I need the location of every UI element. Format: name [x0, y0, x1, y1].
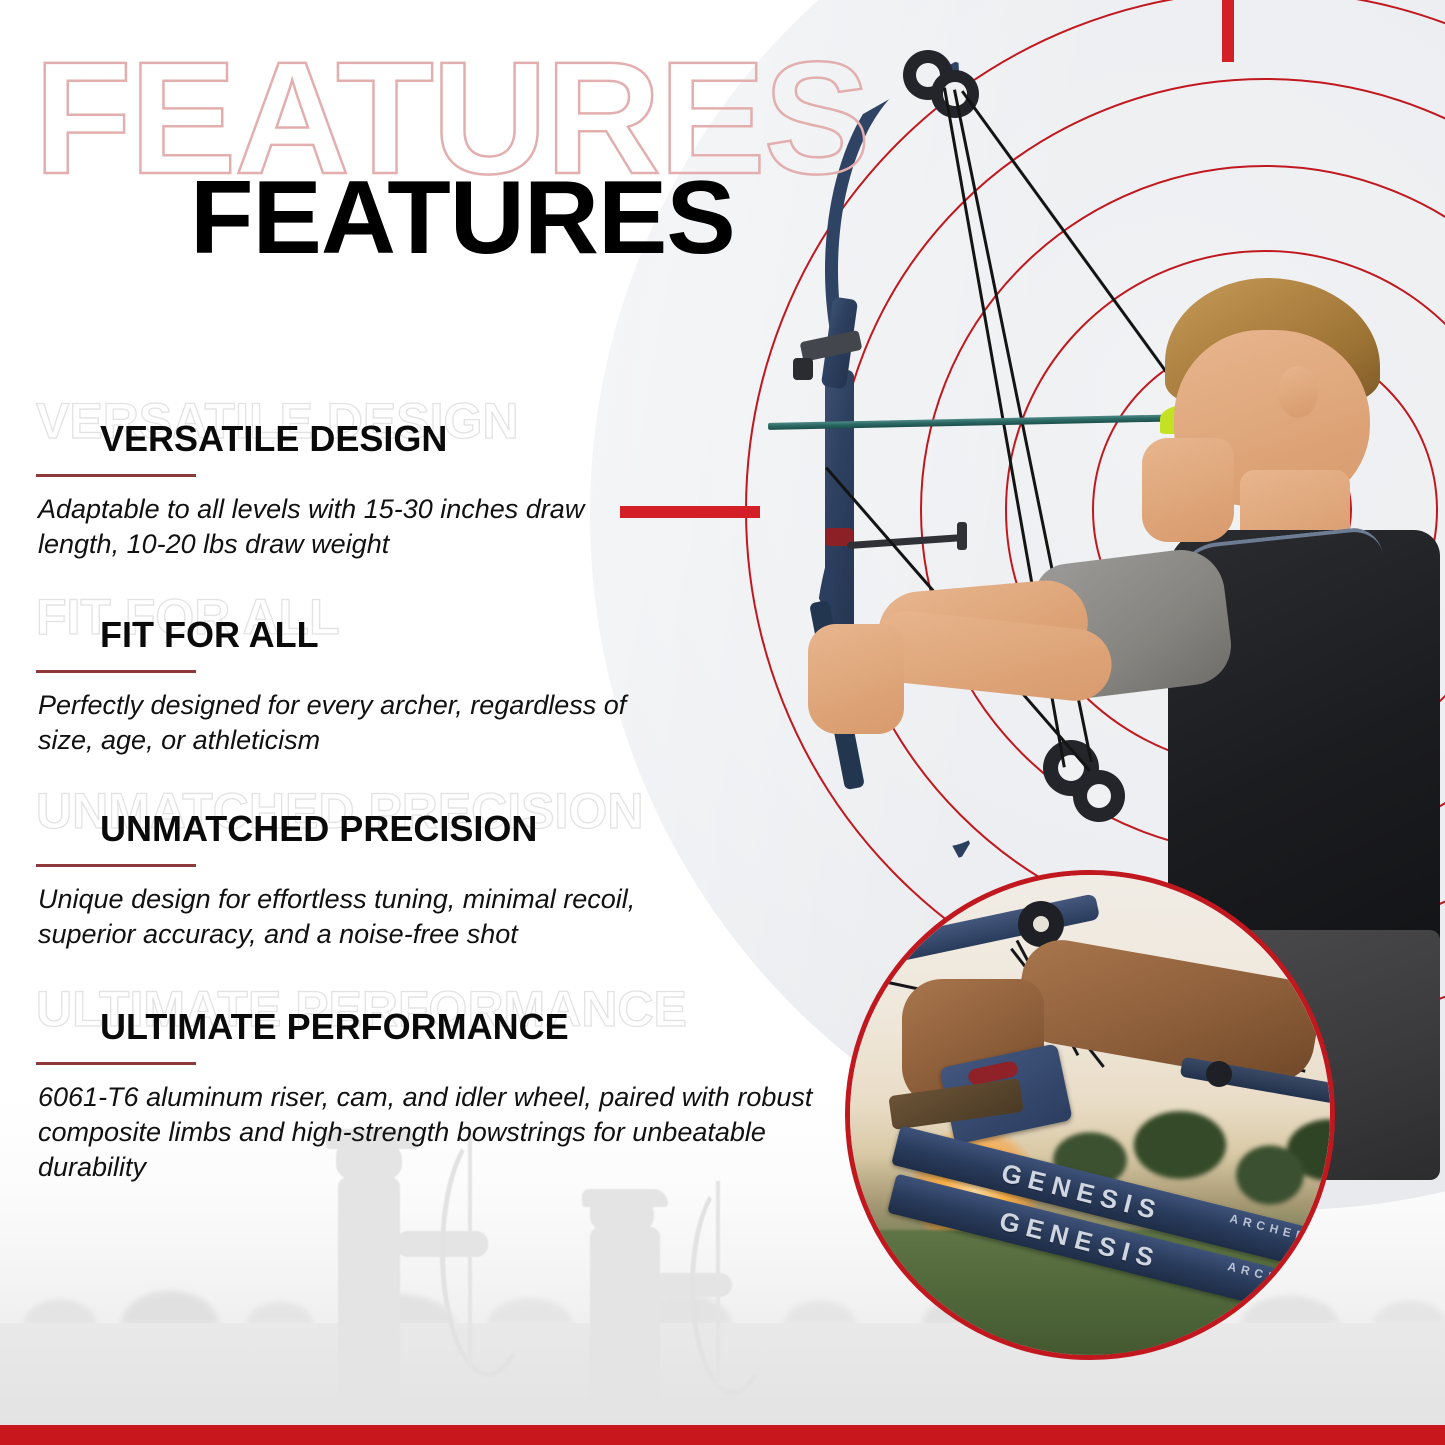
bow-stabilizer-bar — [847, 534, 965, 549]
archer-ear — [1278, 366, 1318, 418]
page-title: FEATURES — [190, 166, 735, 270]
inset-bow-idler-hub — [1033, 916, 1049, 932]
feature-body-text: Unique design for effortless tuning, min… — [38, 882, 728, 952]
feature-heading: VERSATILE DESIGN — [100, 421, 447, 457]
infographic-canvas: GENESIS ARCHERY GENESIS ARCHERY FEATURES… — [0, 0, 1445, 1445]
archer-draw-hand — [1142, 438, 1234, 542]
crosshair-tick-left — [620, 506, 760, 518]
feature-heading: FIT FOR ALL — [100, 617, 319, 653]
background-archer-two — [560, 1167, 780, 1417]
feature-body-text: 6061-T6 aluminum riser, cam, and idler w… — [38, 1080, 818, 1185]
feature-body-text: Adaptable to all levels with 15-30 inche… — [38, 492, 608, 562]
bottom-accent-bar — [0, 1425, 1445, 1445]
bow-sight-pin — [793, 358, 813, 380]
feature-underline — [36, 670, 196, 673]
background-bow-two — [690, 1177, 776, 1395]
feature-underline — [36, 1062, 196, 1065]
feature-body-text: Perfectly designed for every archer, reg… — [38, 688, 678, 758]
feature-heading: UNMATCHED PRECISION — [100, 811, 537, 847]
feature-heading: ULTIMATE PERFORMANCE — [100, 1009, 569, 1045]
feature-underline — [36, 864, 196, 867]
bow-idler-wheel-bottom — [1073, 770, 1125, 822]
inset-right-cam — [1206, 1061, 1232, 1087]
feature-underline — [36, 474, 196, 477]
bow-closeup-inset-photo: GENESIS ARCHERY GENESIS ARCHERY — [845, 870, 1335, 1360]
bow-stabilizer-tip — [957, 522, 967, 550]
archer-bow-hand — [808, 624, 904, 734]
